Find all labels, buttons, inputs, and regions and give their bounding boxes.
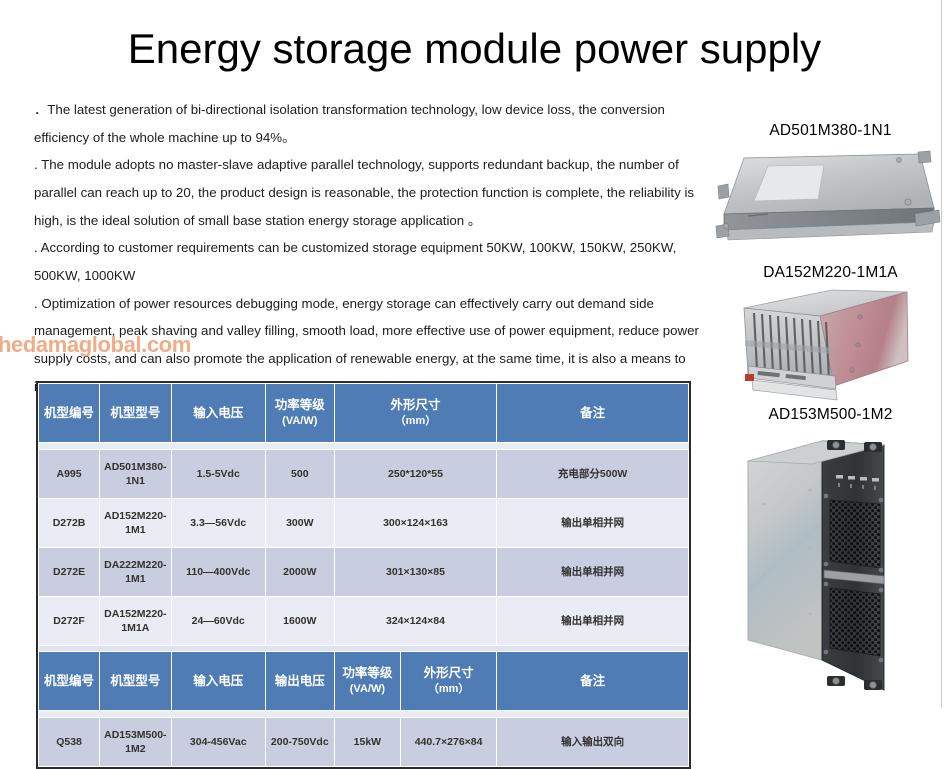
header-dimensions-1-unit: （mm） bbox=[337, 414, 494, 429]
description-paragraph-2: . The module adopts no master-slave adap… bbox=[34, 151, 706, 234]
cell-model-no: D272E bbox=[39, 548, 100, 597]
right-edge-rule bbox=[941, 0, 942, 708]
header-input-voltage-2: 输入电压 bbox=[171, 652, 265, 711]
cell-model-type: AD153M500-1M2 bbox=[100, 718, 172, 767]
table-header-row-2: 机型编号 机型型号 输入电压 输出电压 功率等级 (VA/W) 外形尺寸 （mm… bbox=[39, 652, 689, 711]
cell-input-voltage: 304-456Vac bbox=[171, 718, 265, 767]
product-1-image-flat-rack-module bbox=[712, 144, 949, 256]
header-remark-1: 备注 bbox=[497, 384, 689, 443]
product-1-label: AD501M380-1N1 bbox=[712, 122, 949, 140]
cell-model-no: A995 bbox=[39, 450, 100, 499]
cell-power: 1600W bbox=[265, 597, 334, 646]
specification-table: 机型编号 机型型号 输入电压 功率等级 (VA/W) 外形尺寸 （mm） 备注 … bbox=[38, 383, 689, 767]
cell-model-type: AD152M220-1M1 bbox=[100, 499, 172, 548]
cell-model-type: DA222M220-1M1 bbox=[100, 548, 172, 597]
cell-input-voltage: 24—60Vdc bbox=[171, 597, 265, 646]
cell-input-voltage: 3.3—56Vdc bbox=[171, 499, 265, 548]
slide-page: Energy storage module power supply ．The … bbox=[0, 0, 949, 708]
cell-model-type: DA152M220-1M1A bbox=[100, 597, 172, 646]
header-power-level-2: 功率等级 (VA/W) bbox=[334, 652, 400, 711]
header-model-no-2: 机型编号 bbox=[39, 652, 100, 711]
table-row: D272F DA152M220-1M1A 24—60Vdc 1600W 324×… bbox=[39, 597, 689, 646]
header-output-voltage-2: 输出电压 bbox=[265, 652, 334, 711]
cell-remark: 输出单相并网 bbox=[497, 499, 689, 548]
cell-remark: 充电部分500W bbox=[497, 450, 689, 499]
cell-dimensions: 324×124×84 bbox=[334, 597, 496, 646]
cell-model-type: AD501M380-1N1 bbox=[100, 450, 172, 499]
page-title: Energy storage module power supply bbox=[0, 26, 949, 72]
header-dimensions-2-main: 外形尺寸 bbox=[424, 666, 474, 680]
cell-model-no: D272F bbox=[39, 597, 100, 646]
cell-power: 300W bbox=[265, 499, 334, 548]
header-power-level-2-main: 功率等级 bbox=[342, 666, 392, 680]
table-row: D272E DA222M220-1M1 110—400Vdc 2000W 301… bbox=[39, 548, 689, 597]
header-power-level-2-unit: (VA/W) bbox=[337, 682, 398, 697]
cell-power: 15kW bbox=[334, 718, 400, 767]
table-row: D272B AD152M220-1M1 3.3—56Vdc 300W 300×1… bbox=[39, 499, 689, 548]
cell-input-voltage: 1.5-5Vdc bbox=[171, 450, 265, 499]
header-input-voltage-1: 输入电压 bbox=[171, 384, 265, 443]
header-dimensions-2-unit: （mm） bbox=[403, 682, 494, 697]
header-dimensions-1-main: 外形尺寸 bbox=[390, 398, 440, 412]
header-model-no-1: 机型编号 bbox=[39, 384, 100, 443]
table-row: A995 AD501M380-1N1 1.5-5Vdc 500 250*120*… bbox=[39, 450, 689, 499]
product-3: AD153M500-1M2 bbox=[712, 406, 949, 700]
cell-dimensions: 300×124×163 bbox=[334, 499, 496, 548]
table-spacer bbox=[39, 443, 689, 450]
cell-remark: 输出单相并网 bbox=[497, 597, 689, 646]
description-paragraph-3: . According to customer requirements can… bbox=[34, 234, 706, 289]
cell-model-no: D272B bbox=[39, 499, 100, 548]
cell-dimensions: 250*120*55 bbox=[334, 450, 496, 499]
header-model-type-1: 机型型号 bbox=[100, 384, 172, 443]
header-dimensions-2: 外形尺寸 （mm） bbox=[401, 652, 497, 711]
header-power-level-1-unit: (VA/W) bbox=[268, 414, 332, 429]
description-paragraph-1: ．The latest generation of bi-directional… bbox=[34, 96, 706, 151]
table-spacer bbox=[39, 711, 689, 718]
cell-input-voltage: 110—400Vdc bbox=[171, 548, 265, 597]
cell-remark: 输入输出双向 bbox=[497, 718, 689, 767]
header-remark-2: 备注 bbox=[497, 652, 689, 711]
header-model-type-2: 机型型号 bbox=[100, 652, 172, 711]
cell-power: 2000W bbox=[265, 548, 334, 597]
product-3-label: AD153M500-1M2 bbox=[712, 406, 949, 424]
product-3-image-fan-module bbox=[712, 428, 949, 700]
cell-dimensions: 301×130×85 bbox=[334, 548, 496, 597]
cell-power: 500 bbox=[265, 450, 334, 499]
cell-dimensions: 440.7×276×84 bbox=[401, 718, 497, 767]
cell-model-no: Q538 bbox=[39, 718, 100, 767]
table-header-row-1: 机型编号 机型型号 输入电压 功率等级 (VA/W) 外形尺寸 （mm） 备注 bbox=[39, 384, 689, 443]
product-1: AD501M380-1N1 bbox=[712, 122, 949, 256]
product-2-label: DA152M220-1M1A bbox=[712, 264, 949, 282]
specification-table-container: 机型编号 机型型号 输入电压 功率等级 (VA/W) 外形尺寸 （mm） 备注 … bbox=[36, 381, 691, 769]
cell-remark: 输出单相并网 bbox=[497, 548, 689, 597]
header-power-level-1-main: 功率等级 bbox=[275, 398, 325, 412]
product-2: DA152M220-1M1A bbox=[712, 264, 949, 404]
cell-output-voltage: 200-750Vdc bbox=[265, 718, 334, 767]
header-dimensions-1: 外形尺寸 （mm） bbox=[334, 384, 496, 443]
table-row: Q538 AD153M500-1M2 304-456Vac 200-750Vdc… bbox=[39, 718, 689, 767]
description-block: ．The latest generation of bi-directional… bbox=[34, 96, 706, 400]
product-2-image-vented-module bbox=[712, 286, 949, 404]
header-power-level-1: 功率等级 (VA/W) bbox=[265, 384, 334, 443]
